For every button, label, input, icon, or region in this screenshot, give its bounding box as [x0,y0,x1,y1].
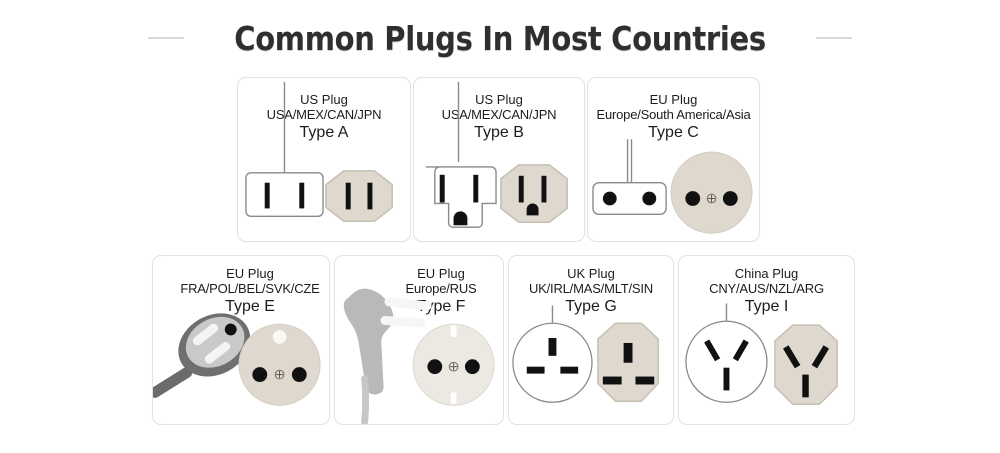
plug-codes-label: USA/MEX/CAN/JPN [414,107,584,122]
type-i-illustration [679,256,854,424]
plug-type-label: Type F [387,298,495,317]
plug-card-labels: EU Plug Europe/South America/Asia Type C [588,92,759,143]
plug-type-label: Type I [679,298,854,317]
type-e-illustration [153,256,329,424]
title-rule-left [148,37,184,39]
plug-country-label: EU Plug [387,266,495,281]
title-rule-right [816,37,852,39]
plug-type-label: Type B [414,124,584,143]
plug-card-labels: EU Plug Europe/RUS Type F [335,266,495,317]
plug-type-label: Type A [238,124,410,143]
plug-codes-label: CNY/AUS/NZL/ARG [679,281,854,296]
plug-card-type-a[interactable]: US Plug USA/MEX/CAN/JPN Type A [237,77,411,242]
plug-card-type-f[interactable]: EU Plug Europe/RUS Type F [334,255,504,425]
plug-country-label: US Plug [414,92,584,107]
plug-country-label: EU Plug [588,92,759,107]
plug-country-label: China Plug [679,266,854,281]
plug-card-labels: China Plug CNY/AUS/NZL/ARG Type I [679,266,854,317]
plug-country-label: EU Plug [171,266,329,281]
plug-codes-label: Europe/South America/Asia [588,107,759,122]
type-f-illustration [335,256,503,424]
plug-codes-label: UK/IRL/MAS/MLT/SIN [509,281,673,296]
plug-type-label: Type C [588,124,759,143]
plug-card-labels: US Plug USA/MEX/CAN/JPN Type A [238,92,410,143]
plug-card-type-g[interactable]: UK Plug UK/IRL/MAS/MLT/SIN Type G [508,255,674,425]
type-b-illustration [414,78,584,241]
plug-codes-label: FRA/POL/BEL/SVK/CZE [171,281,329,296]
plug-card-type-e[interactable]: EU Plug FRA/POL/BEL/SVK/CZE Type E [152,255,330,425]
page-title: Common Plugs In Most Countries [234,19,766,58]
type-a-illustration [238,78,410,241]
plug-country-label: UK Plug [509,266,673,281]
type-c-illustration [588,78,759,241]
page-header: Common Plugs In Most Countries [0,14,1000,62]
plug-card-labels: EU Plug FRA/POL/BEL/SVK/CZE Type E [153,266,329,317]
plug-card-type-b[interactable]: US Plug USA/MEX/CAN/JPN Type B [413,77,585,242]
plug-codes-label: Europe/RUS [387,281,495,296]
plug-codes-label: USA/MEX/CAN/JPN [238,107,410,122]
plug-country-label: US Plug [238,92,410,107]
plug-type-label: Type G [509,298,673,317]
plug-card-type-c[interactable]: EU Plug Europe/South America/Asia Type C [587,77,760,242]
plug-card-labels: US Plug USA/MEX/CAN/JPN Type B [414,92,584,143]
plug-card-type-i[interactable]: China Plug CNY/AUS/NZL/ARG Type I [678,255,855,425]
plug-card-labels: UK Plug UK/IRL/MAS/MLT/SIN Type G [509,266,673,317]
plug-type-label: Type E [171,298,329,317]
type-g-illustration [509,256,673,424]
